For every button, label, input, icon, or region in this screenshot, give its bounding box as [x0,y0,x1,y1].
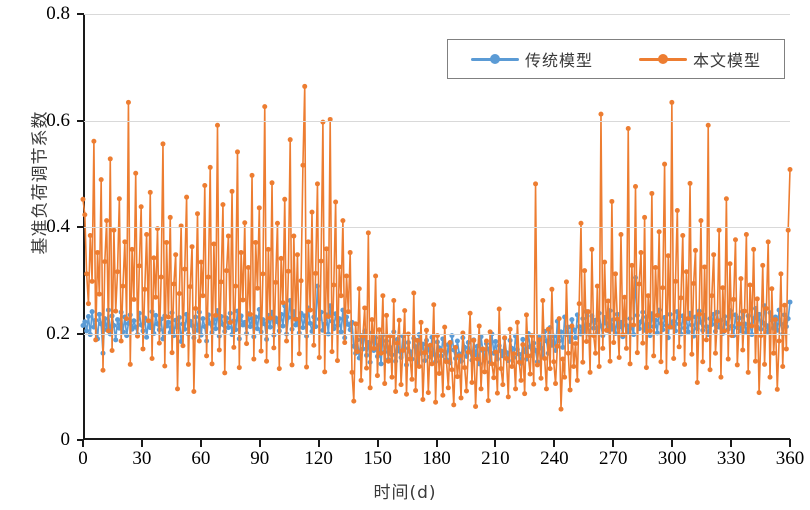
x-tick-mark [436,439,438,447]
x-tick-mark [82,439,84,447]
x-tick-label: 30 [112,448,172,470]
legend: 传统模型 本文模型 [447,39,785,79]
x-tick-mark [494,439,496,447]
legend-swatch-proposed [639,53,687,65]
legend-label-1: 本文模型 [693,47,761,71]
x-tick-mark [789,439,791,447]
chart-root: 基准负荷调节系数 00.20.40.60.8 03060901201501802… [0,0,810,510]
x-tick-label: 300 [642,448,702,470]
x-tick-label: 180 [407,448,467,470]
series-proposed [81,84,793,412]
x-tick-label: 210 [465,448,525,470]
y-tick-mark [77,226,84,228]
gridline [83,334,790,335]
x-tick-mark [259,439,261,447]
y-tick-label: 0.2 [8,323,70,345]
x-axis-title: 时间(d) [0,478,810,503]
y-tick-label: 0 [8,429,70,451]
y-tick-mark [77,333,84,335]
x-tick-mark [553,439,555,447]
x-tick-label: 60 [171,448,231,470]
gridline [83,14,790,15]
x-tick-label: 240 [524,448,584,470]
y-tick-label: 0.8 [8,3,70,25]
x-tick-label: 150 [348,448,408,470]
x-tick-label: 270 [583,448,643,470]
x-tick-mark [730,439,732,447]
x-tick-mark [612,439,614,447]
x-tick-mark [141,439,143,447]
x-tick-mark [377,439,379,447]
x-tick-label: 360 [760,448,810,470]
legend-label-0: 传统模型 [525,47,593,71]
y-tick-mark [77,120,84,122]
legend-swatch-traditional [471,53,519,65]
gridline [83,227,790,228]
x-tick-label: 90 [230,448,290,470]
y-tick-mark [77,13,84,15]
y-axis-title: 基准负荷调节系数 [26,53,51,313]
x-tick-label: 0 [53,448,113,470]
legend-item-0[interactable]: 传统模型 [471,47,593,71]
x-tick-mark [671,439,673,447]
x-tick-mark [200,439,202,447]
x-tick-label: 330 [701,448,761,470]
legend-item-1[interactable]: 本文模型 [639,47,761,71]
x-tick-label: 120 [289,448,349,470]
x-tick-mark [318,439,320,447]
gridline [83,121,790,122]
